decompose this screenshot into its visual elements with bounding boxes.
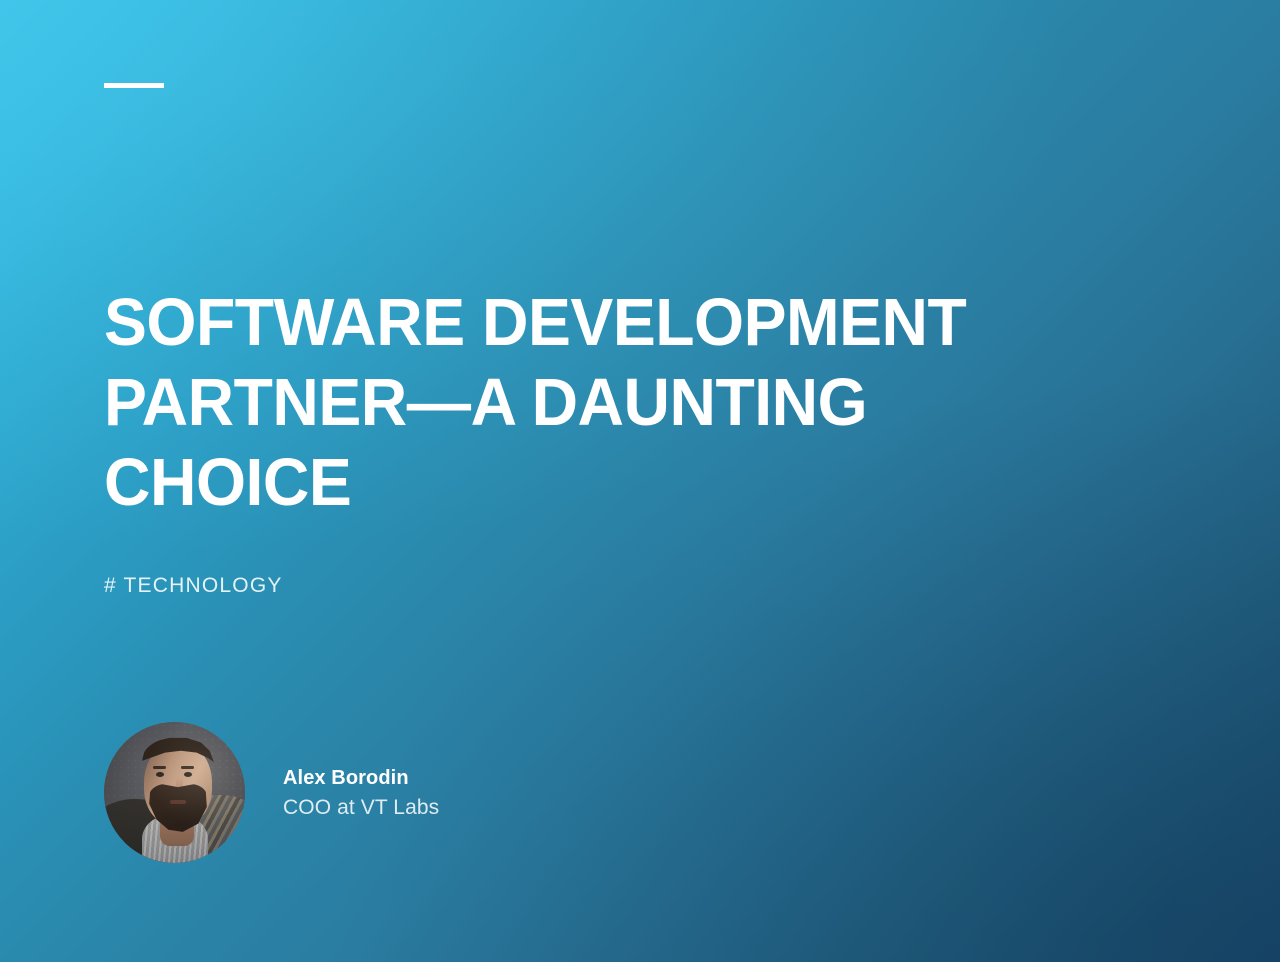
category-tag: # TECHNOLOGY (104, 574, 283, 598)
avatar (104, 722, 245, 863)
author-role: COO at VT Labs (283, 794, 439, 821)
presentation-slide: SOFTWARE DEVELOPMENT PARTNER—A DAUNTING … (0, 0, 1280, 962)
decorative-rule (104, 83, 164, 88)
page-title: SOFTWARE DEVELOPMENT PARTNER—A DAUNTING … (104, 283, 1064, 523)
author-details: Alex Borodin COO at VT Labs (283, 765, 439, 821)
author-name: Alex Borodin (283, 765, 439, 791)
avatar-lighting (104, 722, 245, 863)
author-block: Alex Borodin COO at VT Labs (104, 722, 439, 863)
